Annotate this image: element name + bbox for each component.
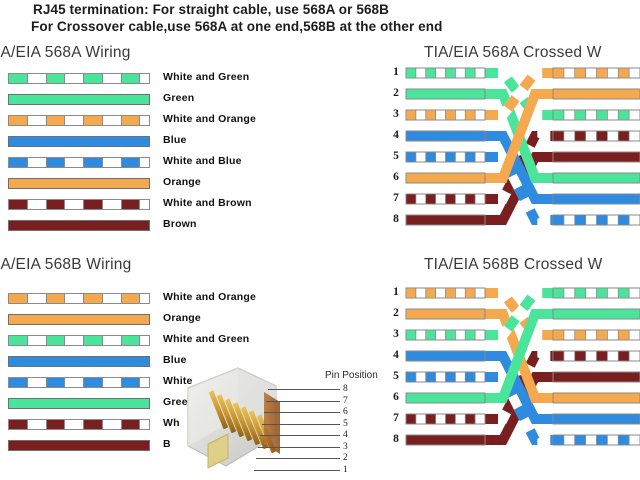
stripe-segment	[103, 158, 122, 167]
cross568a-left-bar-4	[406, 131, 485, 141]
solid-fill	[9, 179, 149, 188]
pin-lead-line-6	[264, 412, 340, 413]
stripe-segment	[9, 74, 28, 83]
stripe-segment	[28, 200, 47, 209]
stripe-segment	[9, 336, 28, 345]
cross568a-left-bar-2	[406, 89, 485, 99]
title-568b-crossed: TIA/EIA 568B Crossed W	[424, 256, 602, 274]
stripe-segment	[47, 336, 66, 345]
cross568a-left-bar-3	[406, 110, 485, 120]
solid-fill	[9, 399, 149, 408]
solid-fill	[9, 95, 149, 104]
title-568a-wiring: IA/EIA 568A Wiring	[0, 44, 131, 62]
w568b-wire-1	[8, 293, 150, 304]
w568a-label-3: White and Orange	[163, 113, 256, 125]
cross568b-right-bar-1	[553, 288, 640, 298]
w568a-wire-4	[8, 136, 150, 147]
rj45-connector-photo	[172, 362, 294, 478]
stripe-segment	[65, 74, 84, 83]
stripe-segment	[9, 158, 28, 167]
w568a-label-8: Brown	[163, 218, 197, 230]
stripe-segment	[47, 294, 66, 303]
w568b-wire-8	[8, 440, 150, 451]
w568a-wire-7	[8, 199, 150, 210]
cross568b-pin-number-3: 3	[390, 328, 402, 340]
cross568a-right-bar-4	[553, 131, 640, 141]
crossed-diagram-568b: 12345678	[388, 282, 640, 460]
stripe-segment	[65, 336, 84, 345]
stripe-segment	[28, 336, 47, 345]
header-line-1: RJ45 termination: For straight cable, us…	[33, 2, 389, 17]
stripe-segment	[84, 294, 103, 303]
crossed-diagram-568a: 12345678	[388, 62, 640, 240]
stripe-segment	[47, 116, 66, 125]
cross568b-right-bar-5	[553, 372, 640, 382]
pin-number-3: 3	[343, 442, 352, 452]
solid-fill	[9, 441, 149, 450]
pin-number-5: 5	[343, 419, 352, 429]
w568a-wire-6	[8, 178, 150, 189]
w568b-wire-6	[8, 398, 150, 409]
stripe-segment	[103, 378, 122, 387]
stripe-segment	[122, 158, 141, 167]
w568b-label-2: Orange	[163, 312, 201, 324]
cross568a-pin-number-2: 2	[390, 87, 402, 99]
stripe-segment	[65, 200, 84, 209]
solid-fill	[9, 221, 149, 230]
stripe-segment	[140, 420, 150, 429]
w568a-label-5: White and Blue	[163, 155, 242, 167]
w568a-wire-8	[8, 220, 150, 231]
cross568a-right-bar-5	[553, 152, 640, 162]
pin-lead-line-7	[266, 401, 340, 402]
pin-lead-line-3	[258, 447, 340, 448]
stripe-segment	[9, 294, 28, 303]
w568a-label-6: Orange	[163, 176, 201, 188]
cross568b-pin-number-7: 7	[390, 412, 402, 424]
cross568b-pin-number-6: 6	[390, 391, 402, 403]
cross568a-pin-number-6: 6	[390, 171, 402, 183]
cross568a-pin-number-5: 5	[390, 150, 402, 162]
stripe-segment	[122, 116, 141, 125]
cross568b-pin-number-4: 4	[390, 349, 402, 361]
pin-lead-line-2	[256, 458, 340, 459]
stripe-segment	[47, 200, 66, 209]
cross568a-right-bar-8	[553, 215, 640, 225]
pin-position-label: Pin Position	[325, 370, 378, 381]
solid-fill	[9, 357, 149, 366]
cross568b-left-bar-1	[406, 288, 485, 298]
w568b-label-8: B	[163, 438, 171, 450]
stripe-segment	[140, 200, 150, 209]
stripe-segment	[84, 420, 103, 429]
stripe-segment	[28, 74, 47, 83]
stripe-segment	[28, 158, 47, 167]
stripe-segment	[103, 294, 122, 303]
stripe-segment	[65, 158, 84, 167]
stripe-segment	[122, 294, 141, 303]
w568b-wire-4	[8, 356, 150, 367]
w568a-label-2: Green	[163, 92, 194, 104]
w568b-wire-7	[8, 419, 150, 430]
stripe-segment	[65, 420, 84, 429]
w568a-wire-5	[8, 157, 150, 168]
stripe-segment	[84, 200, 103, 209]
title-568b-wiring: IA/EIA 568B Wiring	[0, 256, 131, 274]
stripe-segment	[47, 74, 66, 83]
cross568a-right-bar-6	[553, 173, 640, 183]
stripe-segment	[28, 294, 47, 303]
cross568b-pin-number-8: 8	[390, 433, 402, 445]
pin-number-7: 7	[343, 396, 352, 406]
stripe-segment	[47, 378, 66, 387]
stripe-segment	[47, 158, 66, 167]
cross568a-pin-number-3: 3	[390, 108, 402, 120]
cross568a-right-bar-7	[553, 194, 640, 204]
stripe-segment	[122, 74, 141, 83]
pin-number-1: 1	[343, 465, 352, 475]
stripe-segment	[84, 336, 103, 345]
stripe-segment	[28, 116, 47, 125]
w568a-wire-3	[8, 115, 150, 126]
w568a-label-4: Blue	[163, 134, 187, 146]
title-568a-crossed: TIA/EIA 568A Crossed W	[424, 44, 602, 62]
stripe-segment	[28, 378, 47, 387]
cross568a-left-bar-1	[406, 68, 485, 78]
stripe-segment	[65, 294, 84, 303]
cross568a-pin-number-7: 7	[390, 192, 402, 204]
w568b-wire-3	[8, 335, 150, 346]
cross568a-right-bar-2	[553, 89, 640, 99]
stripe-segment	[65, 378, 84, 387]
cross568b-right-bar-3	[553, 330, 640, 340]
stripe-segment	[28, 420, 47, 429]
cross568b-right-bar-2	[553, 309, 640, 319]
cross568b-left-bar-6	[406, 393, 485, 403]
stripe-segment	[47, 420, 66, 429]
diagram-canvas: RJ45 termination: For straight cable, us…	[0, 0, 640, 480]
stripe-segment	[103, 420, 122, 429]
stripe-segment	[140, 116, 150, 125]
cross568b-right-bar-6	[553, 393, 640, 403]
cross568b-left-bar-2	[406, 309, 485, 319]
cross568a-left-bar-6	[406, 173, 485, 183]
cross568a-right-bar-1	[553, 68, 640, 78]
stripe-segment	[9, 420, 28, 429]
cross568a-right-bar-3	[553, 110, 640, 120]
pin-number-8: 8	[343, 384, 352, 394]
cross568b-left-bar-8	[406, 435, 485, 445]
pin-lead-line-8	[268, 389, 340, 390]
cross568b-pin-number-1: 1	[390, 286, 402, 298]
stripe-segment	[9, 378, 28, 387]
cross568b-left-bar-3	[406, 330, 485, 340]
w568a-wire-2	[8, 94, 150, 105]
cross568b-left-bar-4	[406, 351, 485, 361]
stripe-segment	[140, 378, 150, 387]
cross568b-right-bar-4	[553, 351, 640, 361]
stripe-segment	[84, 158, 103, 167]
pin-lead-line-1	[254, 470, 340, 471]
stripe-segment	[122, 336, 141, 345]
stripe-segment	[140, 158, 150, 167]
w568a-wire-1	[8, 73, 150, 84]
cross568a-pin-number-8: 8	[390, 213, 402, 225]
stripe-segment	[84, 378, 103, 387]
pin-number-6: 6	[343, 407, 352, 417]
w568b-wire-5	[8, 377, 150, 388]
solid-fill	[9, 137, 149, 146]
stripe-segment	[65, 116, 84, 125]
cross568b-right-bar-7	[553, 414, 640, 424]
w568a-label-7: White and Brown	[163, 197, 252, 209]
cross568a-pin-number-1: 1	[390, 66, 402, 78]
cross568a-pin-number-4: 4	[390, 129, 402, 141]
solid-fill	[9, 315, 149, 324]
stripe-segment	[140, 294, 150, 303]
pin-lead-line-5	[262, 424, 340, 425]
stripe-segment	[9, 116, 28, 125]
pin-lead-line-4	[260, 435, 340, 436]
cross568b-left-bar-5	[406, 372, 485, 382]
cross568a-left-bar-7	[406, 194, 485, 204]
stripe-segment	[140, 336, 150, 345]
cross568b-pin-number-5: 5	[390, 370, 402, 382]
stripe-segment	[140, 74, 150, 83]
stripe-segment	[103, 74, 122, 83]
cross568b-right-bar-8	[553, 435, 640, 445]
w568b-wire-2	[8, 314, 150, 325]
stripe-segment	[122, 200, 141, 209]
w568b-label-3: White and Green	[163, 333, 249, 345]
stripe-segment	[122, 378, 141, 387]
stripe-segment	[122, 420, 141, 429]
header-line-2: For Crossover cable,use 568A at one end,…	[31, 19, 442, 34]
w568a-label-1: White and Green	[163, 71, 249, 83]
stripe-segment	[103, 116, 122, 125]
stripe-segment	[103, 200, 122, 209]
w568b-label-1: White and Orange	[163, 291, 256, 303]
pin-number-2: 2	[343, 453, 352, 463]
cross568a-left-bar-5	[406, 152, 485, 162]
cross568b-pin-number-2: 2	[390, 307, 402, 319]
stripe-segment	[84, 74, 103, 83]
stripe-segment	[103, 336, 122, 345]
stripe-segment	[9, 200, 28, 209]
cross568a-left-bar-8	[406, 215, 485, 225]
pin-number-4: 4	[343, 430, 352, 440]
cross568b-left-bar-7	[406, 414, 485, 424]
stripe-segment	[84, 116, 103, 125]
